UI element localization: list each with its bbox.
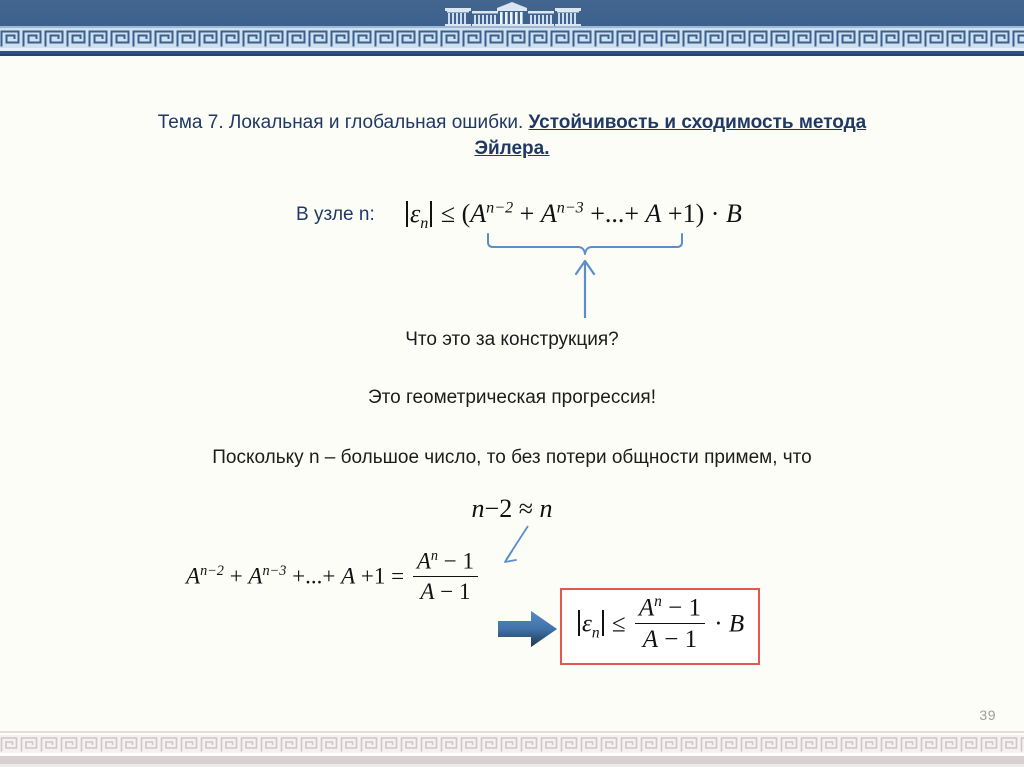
boxed-fraction-denominator: A − 1 [635,623,705,654]
sum-num-a: A [417,549,431,574]
sum-num-minus: − [444,549,457,574]
sum-plus-2: + [292,564,305,589]
approx-relation: ≈ [519,494,533,523]
sum-plus-4: + [361,564,374,589]
one-1: 1 [683,199,696,228]
question-line: Что это за конструкция? [0,329,1024,351]
exponent-n-minus-3: n−3 [557,199,584,216]
right-paren: ) [696,199,705,228]
assumption-line: Поскольку n – большое число, то без поте… [0,447,1024,469]
boxed-result-formula: εn ≤ An − 1 A − 1 · B [560,588,760,665]
sum-num-exp: n [431,548,438,564]
formula-geometric-sum: An−2 + An−3 +...+ A +1 = An − 1 A − 1 [186,550,481,607]
sum-one: 1 [374,564,386,589]
node-label: В узле n: [296,204,375,226]
b-symbol-1: B [726,199,742,228]
top-banner [0,0,1024,56]
boxed-num-one: 1 [688,594,701,621]
classical-building-icon [443,2,581,28]
answer-line: Это геометрическая прогрессия! [0,387,1024,409]
sum-base-a-3: A [341,564,355,589]
sum-exponent-n-minus-3: n−3 [262,563,286,579]
boxed-fraction-numerator: An − 1 [635,593,705,623]
base-a-2: A [541,199,557,228]
sum-fraction: An − 1 A − 1 [413,548,478,605]
plus-3: + [624,199,639,228]
sum-num-one: 1 [463,549,475,574]
boxed-num-a: A [639,594,654,621]
boxed-den-minus: − [664,626,678,653]
approx-two: 2 [499,494,512,523]
boxed-cdot: · [714,610,722,637]
title-plain-part: Тема 7. Локальная и глобальная ошибки. [158,112,529,133]
abs-bar-right [430,201,432,227]
page-number: 39 [979,707,996,723]
sum-base-a-2: A [248,564,262,589]
approx-minus: − [485,494,500,523]
underbrace-icon [487,233,683,255]
boxed-den-a: A [643,626,658,653]
sum-fraction-denominator: A − 1 [413,576,478,605]
boxed-relation-le: ≤ [612,610,626,637]
plus-4: + [668,199,683,228]
base-a-1: A [470,199,486,228]
arrow-up-icon [565,256,605,318]
title-emphasis-part: Устойчивость и сходимость метода Эйлера. [474,112,866,159]
exponent-n-minus-2: n−2 [486,199,513,216]
boxed-abs-bar-left [578,610,580,636]
boxed-num-exp: n [654,593,662,610]
greek-key-meander-top [0,26,1024,56]
epsilon-symbol: ε [410,199,420,228]
sum-plus-3: + [322,564,335,589]
boxed-epsilon: ε [582,610,592,637]
boxed-den-one: 1 [685,626,698,653]
sum-den-one: 1 [459,579,471,604]
greek-key-meander-bottom [0,735,1024,753]
ellipsis-1: ... [605,199,625,228]
left-paren: ( [462,199,471,228]
page-title: Тема 7. Локальная и глобальная ошибки. У… [150,110,874,162]
boxed-epsilon-subscript: n [592,624,600,641]
sum-exponent-n-minus-2: n−2 [200,563,224,579]
sum-den-minus: − [440,579,453,604]
approx-n-right: n [539,494,552,523]
slide-content: Тема 7. Локальная и глобальная ошибки. У… [0,56,1024,711]
base-a-3: A [646,199,662,228]
sum-den-a: A [420,579,434,604]
bottom-banner [0,731,1024,767]
sum-plus-1: + [230,564,243,589]
formula-approximation: n−2 ≈ n [0,494,1024,524]
cdot-1: · [711,199,720,228]
plus-2: + [590,199,605,228]
boxed-num-minus: − [668,594,682,621]
formula-node-inequality: εn ≤ (An−2 + An−3 +...+ A +1) · B [404,199,742,233]
boxed-abs-bar-right [602,610,604,636]
sum-equals: = [391,564,404,589]
boxed-b-symbol: B [729,610,744,637]
abs-bar-left [406,201,408,227]
sum-ellipsis: ... [305,564,322,589]
sum-base-a-1: A [186,564,200,589]
arrow-down-left-icon [498,524,536,566]
plus-1: + [520,199,535,228]
arrow-right-block-icon [497,609,559,649]
boxed-fraction: An − 1 A − 1 [635,593,705,654]
approx-n-left: n [472,494,485,523]
epsilon-subscript: n [420,215,428,232]
relation-le: ≤ [441,199,455,228]
sum-fraction-numerator: An − 1 [413,548,478,576]
